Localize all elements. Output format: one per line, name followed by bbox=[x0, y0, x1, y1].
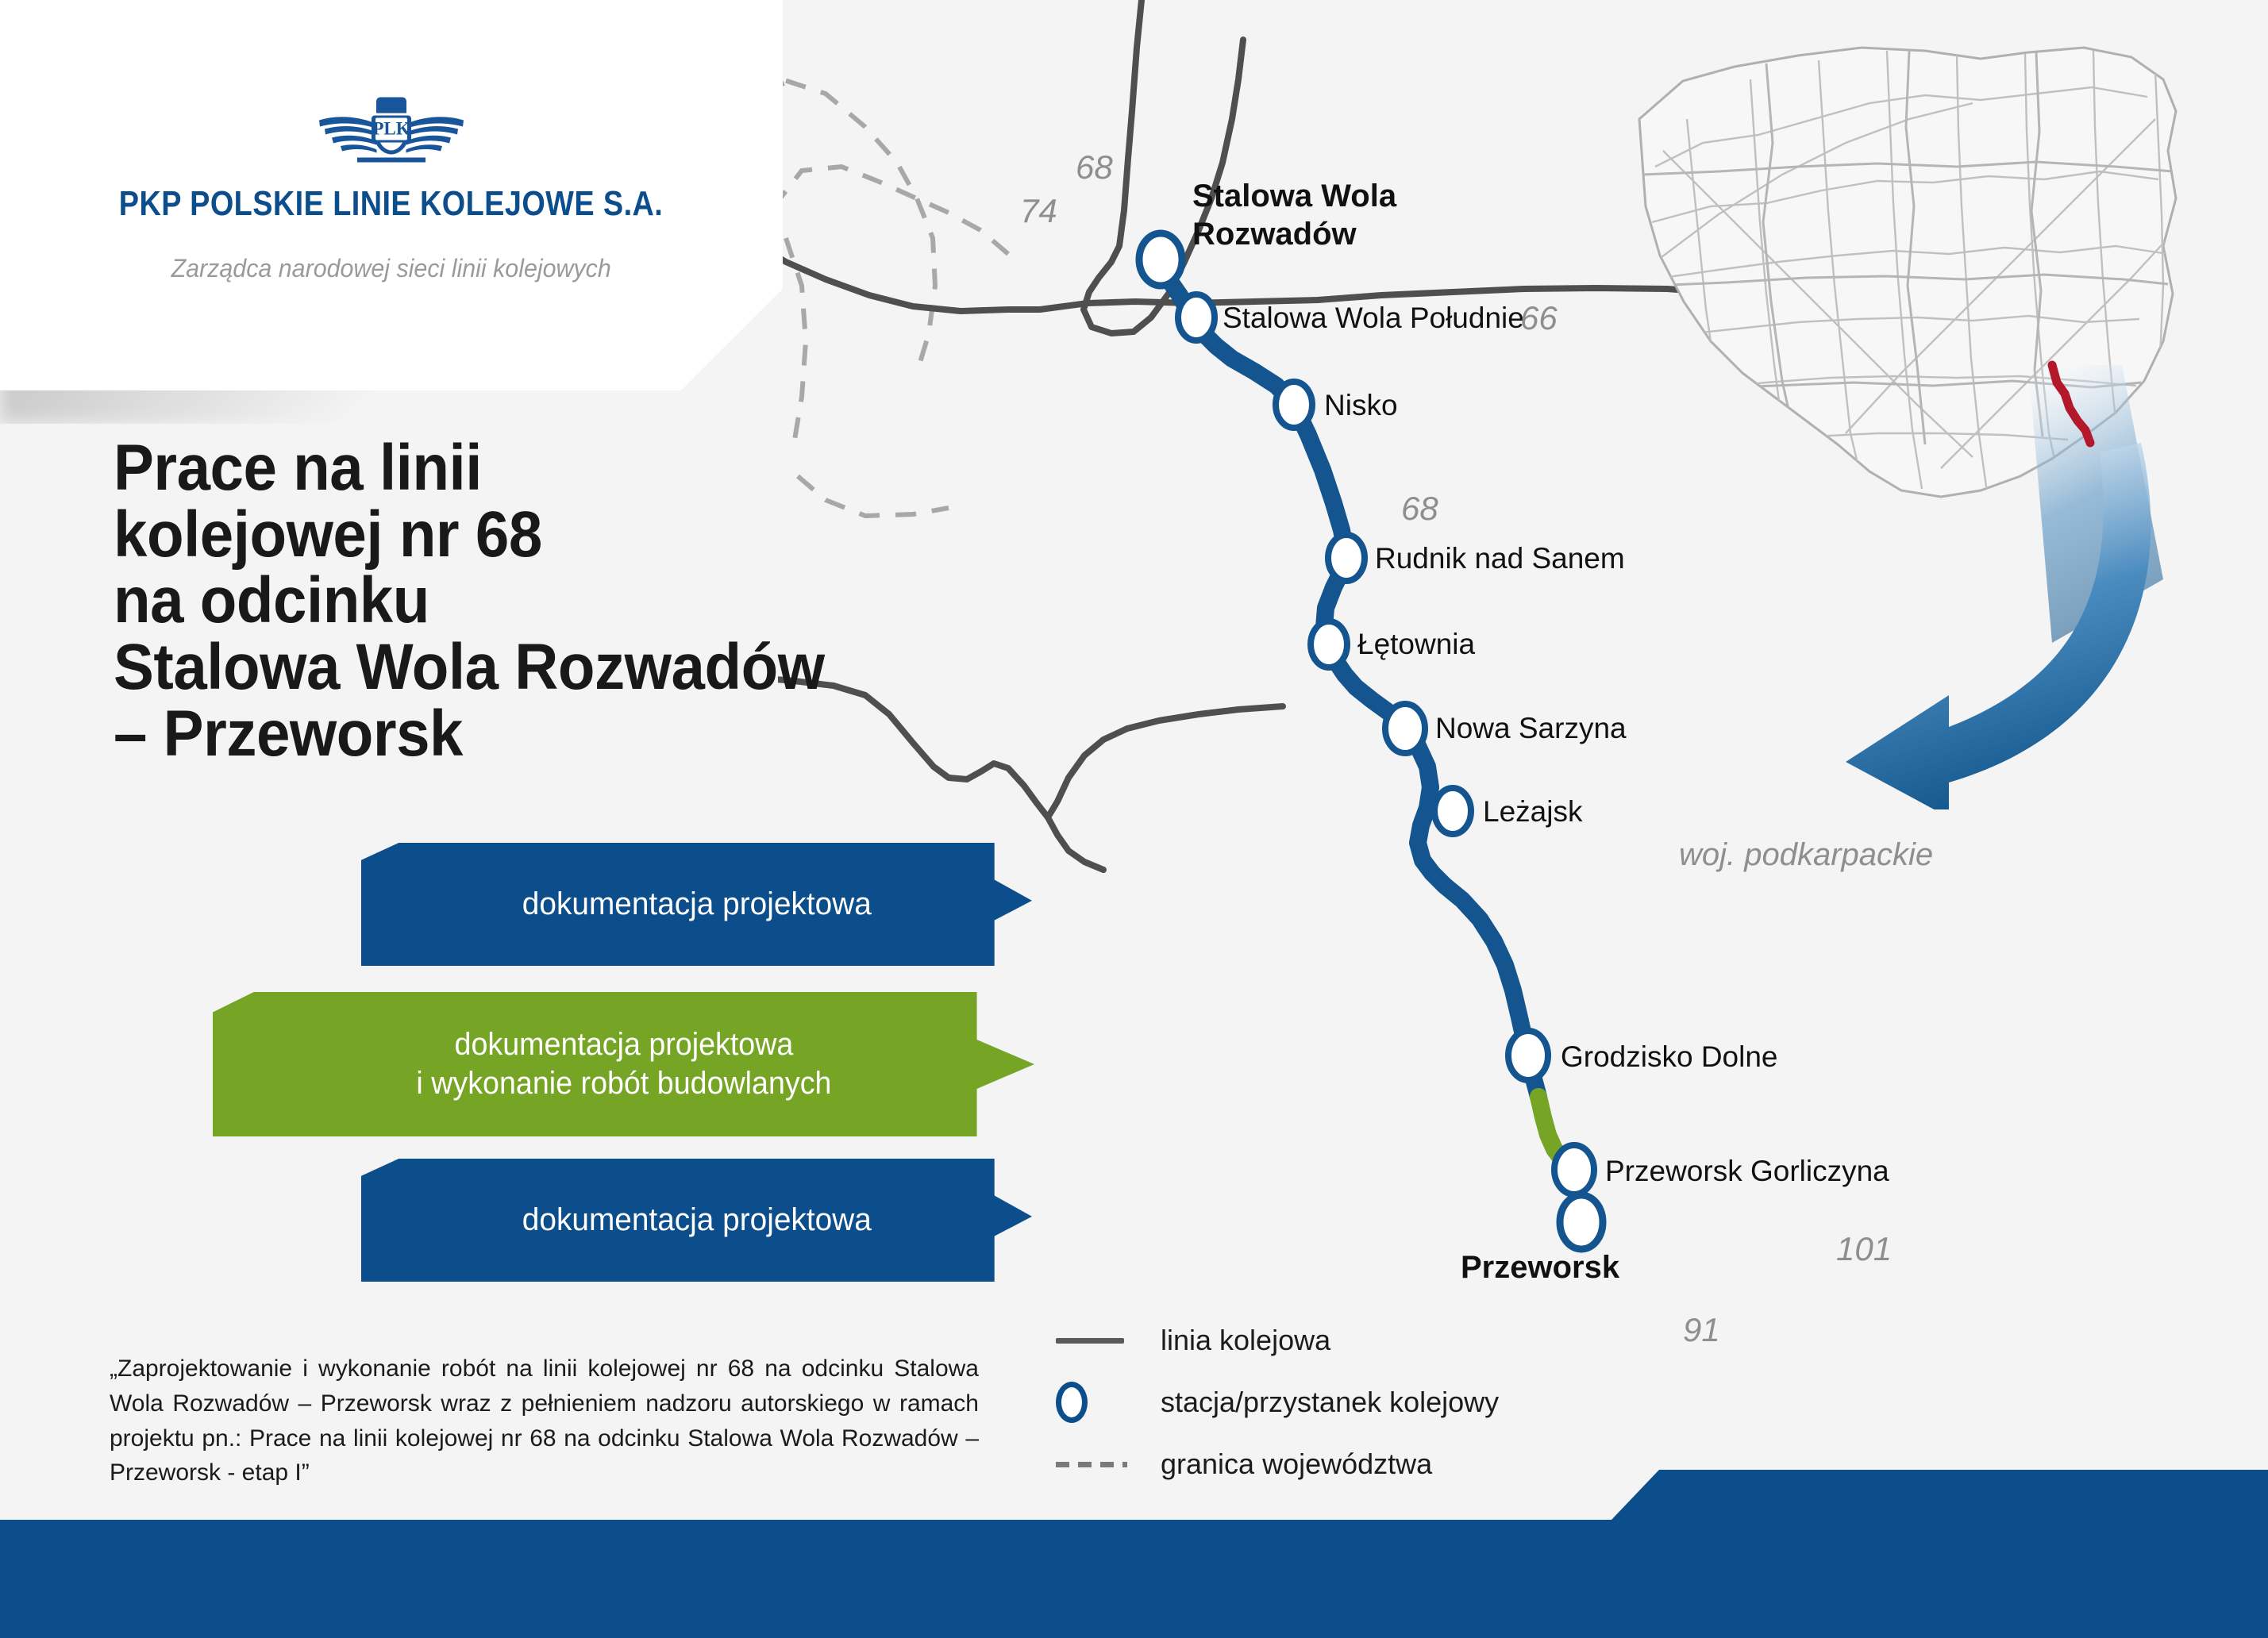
station-marker-nisko[interactable] bbox=[1276, 382, 1312, 428]
legend-banner-label-1: dokumentacja projektowa bbox=[522, 885, 872, 924]
legend-banner-design-and-build[interactable]: dokumentacja projektowa i wykonanie robó… bbox=[213, 992, 1034, 1136]
line-number-68-mid: 68 bbox=[1401, 490, 1438, 527]
page-title-line-2: kolejowej nr 68 bbox=[114, 502, 1111, 568]
plk-emblem-text: PLK bbox=[372, 119, 410, 139]
logo-block: PLK PKP POLSKIE LINIE KOLEJOWE S.A. Zarz… bbox=[0, 0, 783, 390]
map-legend-label-station: stacja/przystanek kolejowy bbox=[1161, 1386, 1499, 1419]
page-title-line-3: na odcinku bbox=[114, 567, 1111, 634]
line-number-66: 66 bbox=[1520, 299, 1558, 336]
page-title-line-1: Prace na linii bbox=[114, 435, 1111, 502]
station-label-nowa-sarzyna: Nowa Sarzyna bbox=[1435, 712, 1627, 744]
station-label-grodzisko-dolne: Grodzisko Dolne bbox=[1561, 1040, 1778, 1073]
rail-corridor-blue bbox=[1159, 262, 1538, 1097]
legend-banner-documentation-2[interactable]: dokumentacja projektowa bbox=[361, 1159, 1032, 1282]
plk-winged-emblem-icon: PLK bbox=[316, 94, 467, 170]
station-marker-przeworsk-gorliczyna[interactable] bbox=[1554, 1145, 1594, 1194]
station-marker-stalowa-wola-poludnie[interactable] bbox=[1178, 294, 1215, 340]
line-number-91: 91 bbox=[1683, 1311, 1720, 1348]
legend-banner-label-2: dokumentacja projektowa i wykonanie robó… bbox=[410, 1025, 838, 1103]
station-marker-rudnik-nad-sanem[interactable] bbox=[1328, 535, 1365, 581]
station-label-stalowa-wola-rozwadow-1: Stalowa Wola bbox=[1192, 179, 1397, 213]
voivodeship-border-icon bbox=[1056, 1462, 1161, 1467]
page-title-line-4: Stalowa Wola Rozwadów bbox=[114, 634, 1111, 701]
poland-inset-map bbox=[1608, 24, 2268, 809]
bottom-brand-band bbox=[0, 1470, 2268, 1638]
inset-pointer-arrow bbox=[1846, 443, 2151, 809]
line-number-74: 74 bbox=[1020, 192, 1057, 229]
logo-tagline: Zarządca narodowej sieci linii kolejowyc… bbox=[171, 254, 611, 283]
station-label-stalowa-wola-poludnie: Stalowa Wola Południe bbox=[1223, 302, 1524, 334]
station-label-lezajsk: Leżajsk bbox=[1483, 795, 1583, 828]
map-legend-row-rail-line: linia kolejowa bbox=[1056, 1309, 1499, 1371]
line-number-68-top: 68 bbox=[1076, 148, 1113, 186]
station-label-stalowa-wola-rozwadow-2: Rozwadów bbox=[1192, 217, 1357, 252]
station-marker-nowa-sarzyna[interactable] bbox=[1385, 704, 1425, 753]
legend-banner-label-2-line-1: dokumentacja projektowa bbox=[416, 1025, 831, 1064]
logo-company-name: PKP POLSKIE LINIE KOLEJOWE S.A. bbox=[119, 184, 663, 224]
page-title-line-5: – Przeworsk bbox=[114, 701, 1111, 767]
legend-banner-documentation-1[interactable]: dokumentacja projektowa bbox=[361, 843, 1032, 966]
legend-banner-label-2-line-2: i wykonanie robót budowlanych bbox=[416, 1064, 831, 1103]
station-label-przeworsk-gorliczyna: Przeworsk Gorliczyna bbox=[1605, 1155, 1889, 1187]
station-marker-lezajsk[interactable] bbox=[1434, 788, 1471, 834]
station-label-nisko: Nisko bbox=[1324, 389, 1398, 421]
infographic-root: Stalowa Wola Rozwadów Stalowa Wola Połud… bbox=[0, 0, 2268, 1638]
station-stop-icon bbox=[1056, 1382, 1161, 1423]
legend-banner-label-3: dokumentacja projektowa bbox=[522, 1201, 872, 1240]
station-marker-grodzisko-dolne[interactable] bbox=[1508, 1031, 1548, 1080]
station-label-letownia: Łętownia bbox=[1357, 628, 1476, 660]
station-marker-stalowa-wola-rozwadow[interactable] bbox=[1139, 233, 1182, 286]
map-legend: linia kolejowa stacja/przystanek kolejow… bbox=[1056, 1309, 1499, 1495]
page-title: Prace na linii kolejowej nr 68 na odcink… bbox=[114, 435, 1185, 767]
station-label-przeworsk: Przeworsk bbox=[1461, 1250, 1620, 1285]
rail-line-icon bbox=[1056, 1338, 1161, 1344]
line-number-101: 101 bbox=[1836, 1230, 1892, 1267]
station-marker-przeworsk[interactable] bbox=[1560, 1195, 1603, 1249]
map-legend-label-rail-line: linia kolejowa bbox=[1161, 1324, 1330, 1357]
station-marker-letownia[interactable] bbox=[1311, 621, 1347, 667]
region-label: woj. podkarpackie bbox=[1679, 837, 1933, 872]
map-legend-row-station: stacja/przystanek kolejowy bbox=[1056, 1371, 1499, 1433]
station-label-rudnik-nad-sanem: Rudnik nad Sanem bbox=[1375, 542, 1625, 575]
